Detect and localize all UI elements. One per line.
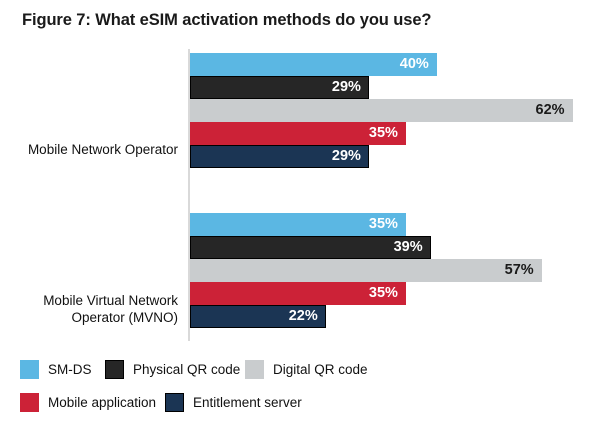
bar-group-mobile-network-operator: 40% 29% 62% 35% 29%	[190, 53, 600, 168]
page-title: Figure 7: What eSIM activation methods d…	[22, 11, 431, 30]
legend-item-mobile-application[interactable]: Mobile application	[20, 389, 156, 415]
bar-row: 29%	[190, 145, 600, 168]
chart-legend: SM-DS Physical QR code Digital QR code M…	[0, 352, 600, 422]
bar-value-label: 57%	[190, 259, 534, 282]
bar-value-label: 29%	[190, 145, 361, 168]
legend-swatch-icon	[20, 393, 39, 412]
bar-row: 35%	[190, 282, 600, 305]
bar-group-mvno: 35% 39% 57% 35% 22%	[190, 213, 600, 328]
category-label-line: Mobile Network Operator	[0, 141, 178, 158]
category-label-mvno: Mobile Virtual Network Operator (MVNO)	[0, 292, 178, 326]
bar-value-label: 62%	[190, 99, 565, 122]
legend-swatch-icon	[105, 360, 124, 379]
bar-row: 62%	[190, 99, 600, 122]
legend-swatch-icon	[20, 360, 39, 379]
legend-label: Physical QR code	[133, 362, 240, 377]
bar-row: 35%	[190, 213, 600, 236]
bar-value-label: 22%	[190, 305, 318, 328]
bar-row: 39%	[190, 236, 600, 259]
legend-label: Digital QR code	[273, 362, 368, 377]
legend-swatch-icon	[245, 360, 264, 379]
legend-row: SM-DS Physical QR code Digital QR code	[0, 356, 600, 382]
bar-row: 22%	[190, 305, 600, 328]
legend-swatch-icon	[165, 393, 184, 412]
legend-label: SM-DS	[48, 362, 92, 377]
legend-label: Mobile application	[48, 395, 156, 410]
legend-item-entitlement-server[interactable]: Entitlement server	[165, 389, 302, 415]
legend-label: Entitlement server	[193, 395, 302, 410]
bar-value-label: 35%	[190, 213, 398, 236]
category-label-line: Operator (MVNO)	[0, 309, 178, 326]
category-label-mobile-network-operator: Mobile Network Operator	[0, 141, 178, 158]
legend-row: Mobile application Entitlement server	[0, 389, 600, 415]
legend-item-sm-ds[interactable]: SM-DS	[20, 356, 92, 382]
bar-value-label: 35%	[190, 122, 398, 145]
bar-row: 57%	[190, 259, 600, 282]
bar-value-label: 35%	[190, 282, 398, 305]
bar-value-label: 39%	[190, 236, 423, 259]
plot-area: Mobile Network Operator Mobile Virtual N…	[0, 44, 600, 344]
bar-row: 40%	[190, 53, 600, 76]
legend-item-digital-qr-code[interactable]: Digital QR code	[245, 356, 368, 382]
category-label-line: Mobile Virtual Network	[0, 292, 178, 309]
bar-row: 29%	[190, 76, 600, 99]
bar-value-label: 40%	[190, 53, 429, 76]
bar-row: 35%	[190, 122, 600, 145]
legend-item-physical-qr-code[interactable]: Physical QR code	[105, 356, 240, 382]
bar-value-label: 29%	[190, 76, 361, 99]
chart-figure: Figure 7: What eSIM activation methods d…	[0, 0, 600, 429]
